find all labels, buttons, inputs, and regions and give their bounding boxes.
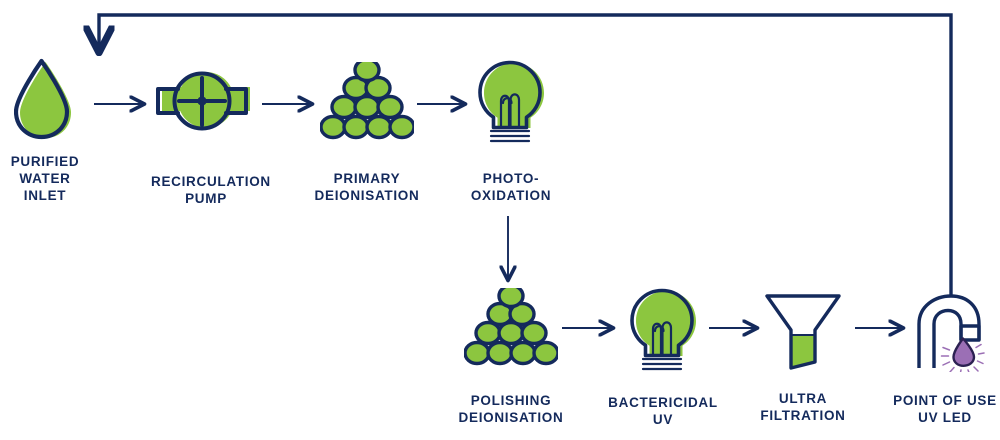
node-point-of-use-uv-led[interactable]: POINT OF USE UV LED [903,288,987,372]
node-label-bactericidal-uv: BACTERICIDAL UV [603,394,723,428]
node-photo-oxidation[interactable]: PHOTO- OXIDATION [473,60,549,146]
water-droplet-icon [14,58,76,142]
funnel-icon [763,290,843,372]
node-bactericidal-uv[interactable]: BACTERICIDAL UV [625,288,701,374]
light-bulb-icon [625,288,701,374]
node-purified-water-inlet[interactable]: PURIFIED WATER INLET [14,58,76,142]
node-polishing-deionisation[interactable]: POLISHING DEIONISATION [464,288,558,368]
recirculation-loop [99,15,951,296]
resin-beads-pyramid-icon [464,288,558,368]
resin-beads-pyramid-icon [320,62,414,142]
light-bulb-icon [473,60,549,146]
node-ultra-filtration[interactable]: ULTRA FILTRATION [763,290,843,372]
node-label-recirculation-pump: RECIRCULATION PUMP [151,173,261,207]
node-label-point-of-use-uv-led: POINT OF USE UV LED [885,392,1000,426]
node-primary-deionisation[interactable]: PRIMARY DEIONISATION [320,62,414,142]
node-label-ultra-filtration: ULTRA FILTRATION [748,390,858,424]
node-label-purified-water-inlet: PURIFIED WATER INLET [0,153,95,204]
node-label-primary-deionisation: PRIMARY DEIONISATION [312,170,422,204]
node-label-polishing-deionisation: POLISHING DEIONISATION [456,392,566,426]
process-flow-diagram: PURIFIED WATER INLET RECIRCULATION PUMP [0,0,1000,440]
pump-icon [156,68,256,138]
node-recirculation-pump[interactable]: RECIRCULATION PUMP [156,68,256,138]
node-label-photo-oxidation: PHOTO- OXIDATION [461,170,561,204]
tap-faucet-uv-icon [903,288,987,372]
